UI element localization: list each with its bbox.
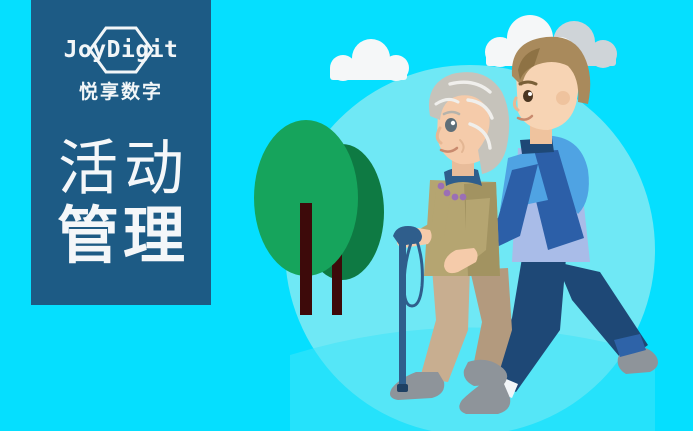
title-panel: JoyDigit 悦享数字 活动 管理	[31, 0, 211, 305]
elderly-woman-eye	[445, 118, 457, 132]
young-man-eye	[523, 90, 533, 102]
brand-logo: JoyDigit 悦享数字	[41, 26, 201, 112]
page-title-line-1: 活动	[52, 138, 190, 200]
young-man-ear	[556, 91, 570, 105]
page-title: 活动 管理	[52, 138, 190, 269]
cane-tip	[397, 384, 408, 392]
logo-mark: JoyDigit	[41, 26, 201, 74]
logo-subtitle: 悦享数字	[79, 83, 163, 102]
poster-canvas: JoyDigit 悦享数字 活动 管理	[0, 0, 693, 431]
young-man-eye-glint	[528, 92, 532, 96]
tree-left-trunk	[300, 203, 312, 315]
elderly-woman-eye-glint	[451, 121, 455, 125]
page-title-line-2: 管理	[53, 204, 189, 268]
logo-wordmark: JoyDigit	[64, 39, 179, 62]
